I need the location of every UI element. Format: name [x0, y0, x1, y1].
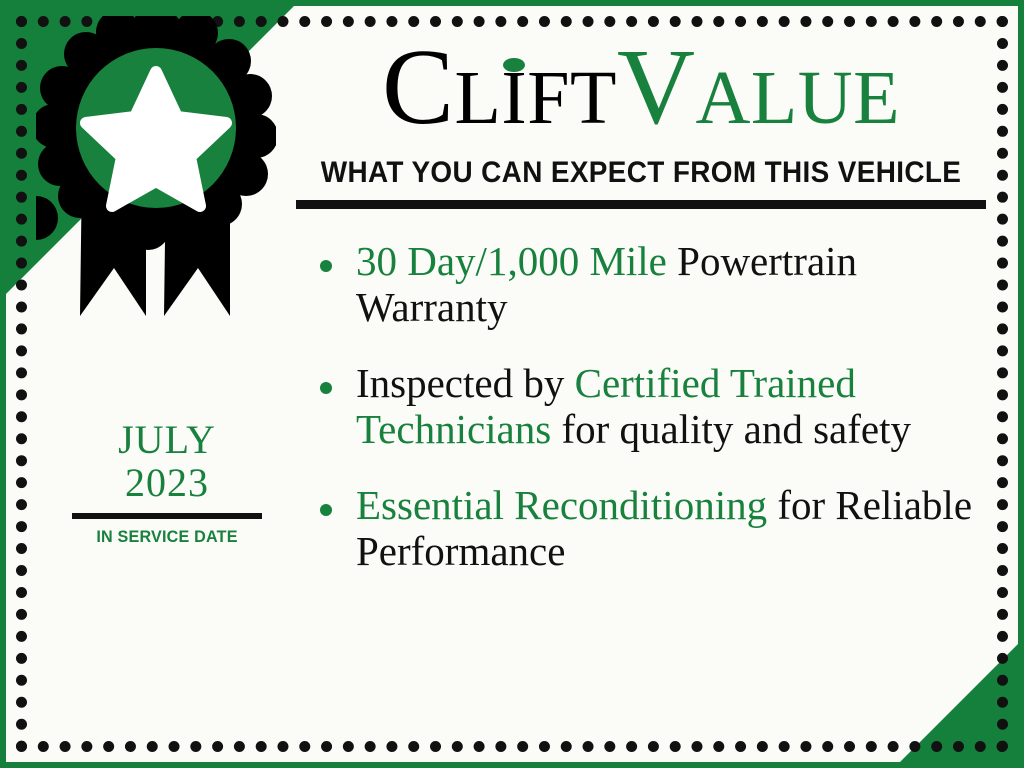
in-service-month: JULY	[72, 418, 262, 461]
list-item: 30 Day/1,000 Mile Powertrain Warranty	[310, 239, 986, 331]
logo-alue: ALUE	[695, 56, 900, 140]
in-service-year: 2023	[72, 461, 262, 504]
bullet-2-segment-1: Inspected by	[356, 360, 575, 406]
logo-l: L	[454, 56, 501, 140]
list-item: Inspected by Certified Trained Technicia…	[310, 361, 986, 453]
logo-v: V	[617, 28, 696, 147]
in-service-divider	[72, 513, 262, 519]
in-service-date-block: JULY 2023 IN SERVICE DATE	[72, 418, 262, 547]
subtitle-divider	[296, 200, 986, 209]
brand-logo: CLIFTVALUE	[296, 34, 986, 142]
list-item: Essential Reconditioning for Reliable Pe…	[310, 483, 986, 575]
logo-c: C	[382, 28, 455, 147]
main-content: CLIFTVALUE WHAT YOU CAN EXPECT FROM THIS…	[296, 34, 986, 604]
bullet-1-segment-1: 30 Day/1,000 Mile	[356, 238, 677, 284]
bottom-right-green-corner	[894, 638, 1024, 768]
logo-ft: FT	[527, 56, 617, 140]
bullet-2-segment-3: for quality and safety	[561, 406, 911, 452]
award-ribbon-star-icon	[36, 16, 276, 336]
in-service-label: IN SERVICE DATE	[77, 527, 258, 547]
page-subtitle: WHAT YOU CAN EXPECT FROM THIS VEHICLE	[320, 156, 962, 190]
clift-value-certificate: JULY 2023 IN SERVICE DATE CLIFTVALUE WHA…	[0, 0, 1024, 768]
expectations-list: 30 Day/1,000 Mile Powertrain Warranty In…	[296, 239, 986, 574]
logo-i-dot-icon	[503, 58, 525, 72]
bullet-3-segment-1: Essential Reconditioning	[356, 482, 777, 528]
